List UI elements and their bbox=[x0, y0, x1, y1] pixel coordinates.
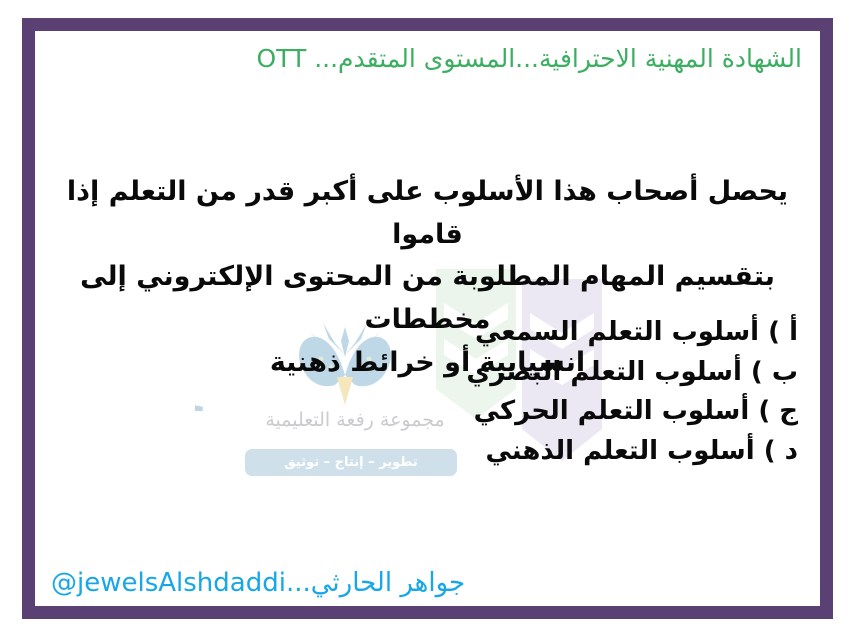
answer-options-list: أ ) أسلوب التعلم السمعي ب ) أسلوب التعلم… bbox=[278, 313, 798, 471]
question-line: يحصل أصحاب هذا الأسلوب على أكبر قدر من ا… bbox=[59, 171, 796, 256]
answer-option-d[interactable]: د ) أسلوب التعلم الذهني bbox=[278, 432, 798, 472]
page-title: الشهادة المهنية الاحترافية...المستوى الم… bbox=[53, 43, 802, 74]
answer-option-c[interactable]: ج ) أسلوب التعلم الحركي bbox=[278, 392, 798, 432]
slide-screen: الشهادة المهنية الاحترافية...المستوى الم… bbox=[0, 0, 855, 637]
author-handle: @jewelsAlshdaddi...جواهر الحارثي bbox=[51, 568, 465, 598]
answer-option-b[interactable]: ب ) أسلوب التعلم البصري bbox=[278, 353, 798, 393]
slide-content-area: الشهادة المهنية الاحترافية...المستوى الم… bbox=[35, 31, 820, 606]
answer-option-a[interactable]: أ ) أسلوب التعلم السمعي bbox=[278, 313, 798, 353]
